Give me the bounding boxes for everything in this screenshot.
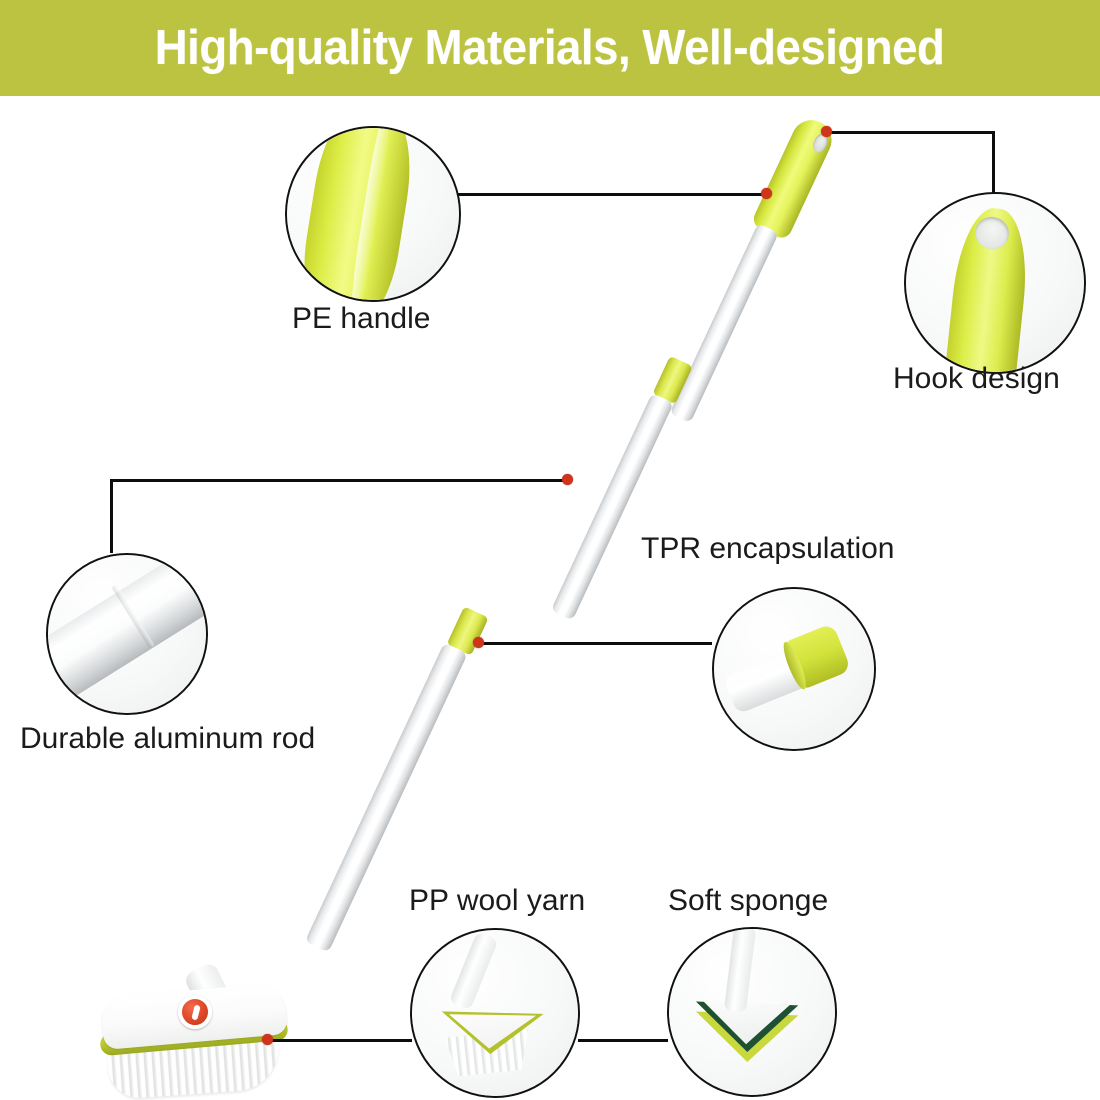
leader-line-hook-v [992, 131, 995, 193]
callout-soft-sponge[interactable] [667, 927, 837, 1097]
leader-dot-pe-handle [761, 188, 772, 199]
brush-bristles [106, 1034, 281, 1100]
handle-closeup-icon [287, 128, 459, 300]
mid-pole [551, 393, 674, 621]
callout-hook-design[interactable] [904, 192, 1086, 374]
callout-pp-wool-yarn[interactable] [410, 928, 580, 1098]
upper-tpr-collar [652, 356, 692, 405]
callout-durable-aluminum-rod[interactable] [46, 553, 208, 715]
leader-dot-pp-wool [262, 1034, 273, 1045]
callout-label-tpr-encapsulation: TPR encapsulation [641, 532, 894, 566]
leader-dot-tpr [473, 637, 484, 648]
leader-dot-rod [562, 474, 573, 485]
leader-line-rod-h [110, 479, 567, 482]
header-banner: High-quality Materials, Well-designed [0, 0, 1100, 96]
brush-head-neck [183, 961, 235, 1021]
callout-pe-handle[interactable] [285, 126, 461, 302]
callout-label-durable-aluminum-rod: Durable aluminum rod [20, 722, 315, 756]
infographic-stage: High-quality Materials, Well-designed [0, 0, 1100, 1097]
leader-line-soft-sponge [578, 1039, 668, 1042]
callout-label-hook-design: Hook design [893, 362, 1060, 396]
leader-line-pp-wool [272, 1039, 412, 1042]
leader-line-tpr [478, 642, 712, 645]
brush-head-body [100, 982, 288, 1050]
leader-dot-hook [821, 126, 832, 137]
hook-closeup-icon [906, 194, 1084, 372]
callout-label-pe-handle: PE handle [292, 302, 430, 336]
triangular-brush-closeup-icon [412, 930, 578, 1096]
brush-head-trim [99, 1018, 288, 1056]
page-title: High-quality Materials, Well-designed [155, 20, 945, 76]
callout-label-pp-wool-yarn: PP wool yarn [409, 884, 585, 918]
leader-line-rod-v [110, 479, 113, 553]
tpr-collar-closeup-icon [714, 589, 874, 749]
triangular-sponge-closeup-icon [669, 929, 835, 1095]
release-button-icon [178, 995, 212, 1029]
leader-line-pe-handle [457, 193, 766, 196]
upper-pole [669, 223, 779, 423]
aluminum-rod-closeup-icon [48, 555, 206, 713]
leader-line-hook-h [826, 131, 995, 134]
middle-tpr-collar [447, 606, 489, 655]
callout-tpr-encapsulation[interactable] [712, 587, 876, 751]
callout-label-soft-sponge: Soft sponge [668, 884, 828, 918]
